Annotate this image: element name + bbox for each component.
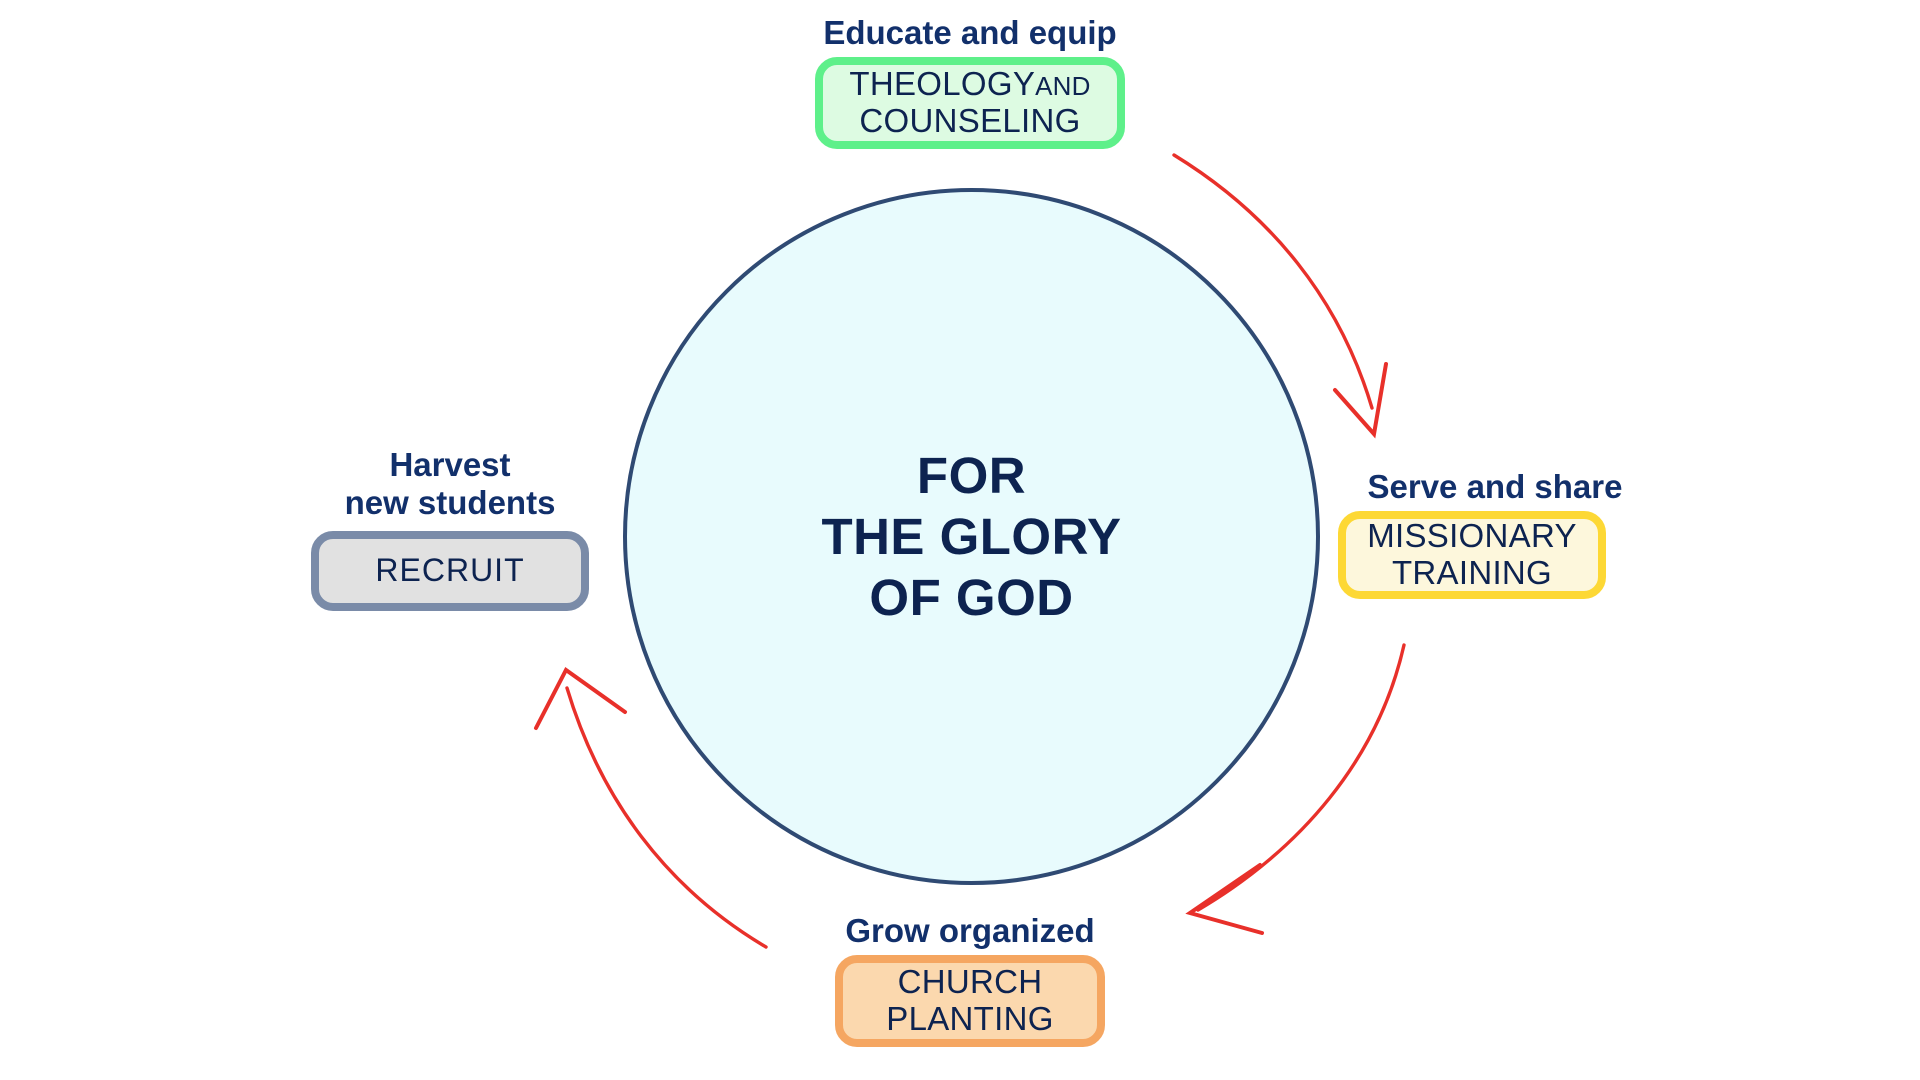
node-recruit-caption-line-2: new students (345, 484, 556, 522)
center-line-1: FOR (917, 445, 1026, 506)
chip-church-planting[interactable]: CHURCH PLANTING (835, 955, 1105, 1047)
chip-missionary-training[interactable]: MISSIONARY TRAINING (1338, 511, 1606, 599)
chip-church-line-1: CHURCH (898, 964, 1043, 1001)
center-circle-text: FOR THE GLORY OF GOD (623, 188, 1320, 885)
node-church: Grow organized CHURCH PLANTING (660, 912, 1280, 1047)
chip-theology-line-2: COUNSELING (859, 103, 1080, 140)
node-missionary-caption: Serve and share (1330, 468, 1660, 506)
chip-theology-word-and: AND (1035, 71, 1091, 101)
node-missionary: Serve and share MISSIONARY TRAINING (1330, 468, 1660, 599)
chip-theology-and-counseling[interactable]: THEOLOGYAND COUNSELING (815, 57, 1125, 149)
chip-missionary-line-1: MISSIONARY (1367, 518, 1577, 555)
chip-recruit-line-1: RECRUIT (375, 553, 524, 589)
center-line-2: THE GLORY (821, 506, 1121, 567)
diagram-canvas: FOR THE GLORY OF GOD Educate and equip T… (0, 0, 1920, 1080)
center-circle: FOR THE GLORY OF GOD (623, 188, 1320, 885)
chip-recruit[interactable]: RECRUIT (311, 531, 589, 611)
node-recruit-caption-line-1: Harvest (345, 446, 556, 484)
chip-theology-word-theology: THEOLOGY (849, 65, 1035, 102)
center-line-3: OF GOD (869, 567, 1073, 628)
node-theology: Educate and equip THEOLOGYAND COUNSELING (660, 14, 1280, 149)
chip-church-line-2: PLANTING (886, 1001, 1053, 1038)
chip-theology-line-1: THEOLOGYAND (849, 66, 1090, 103)
node-recruit-caption: Harvest new students (345, 446, 556, 522)
node-recruit: Harvest new students RECRUIT (280, 446, 620, 611)
node-theology-caption: Educate and equip (823, 14, 1116, 52)
chip-missionary-line-2: TRAINING (1392, 555, 1552, 592)
node-church-caption: Grow organized (845, 912, 1094, 950)
